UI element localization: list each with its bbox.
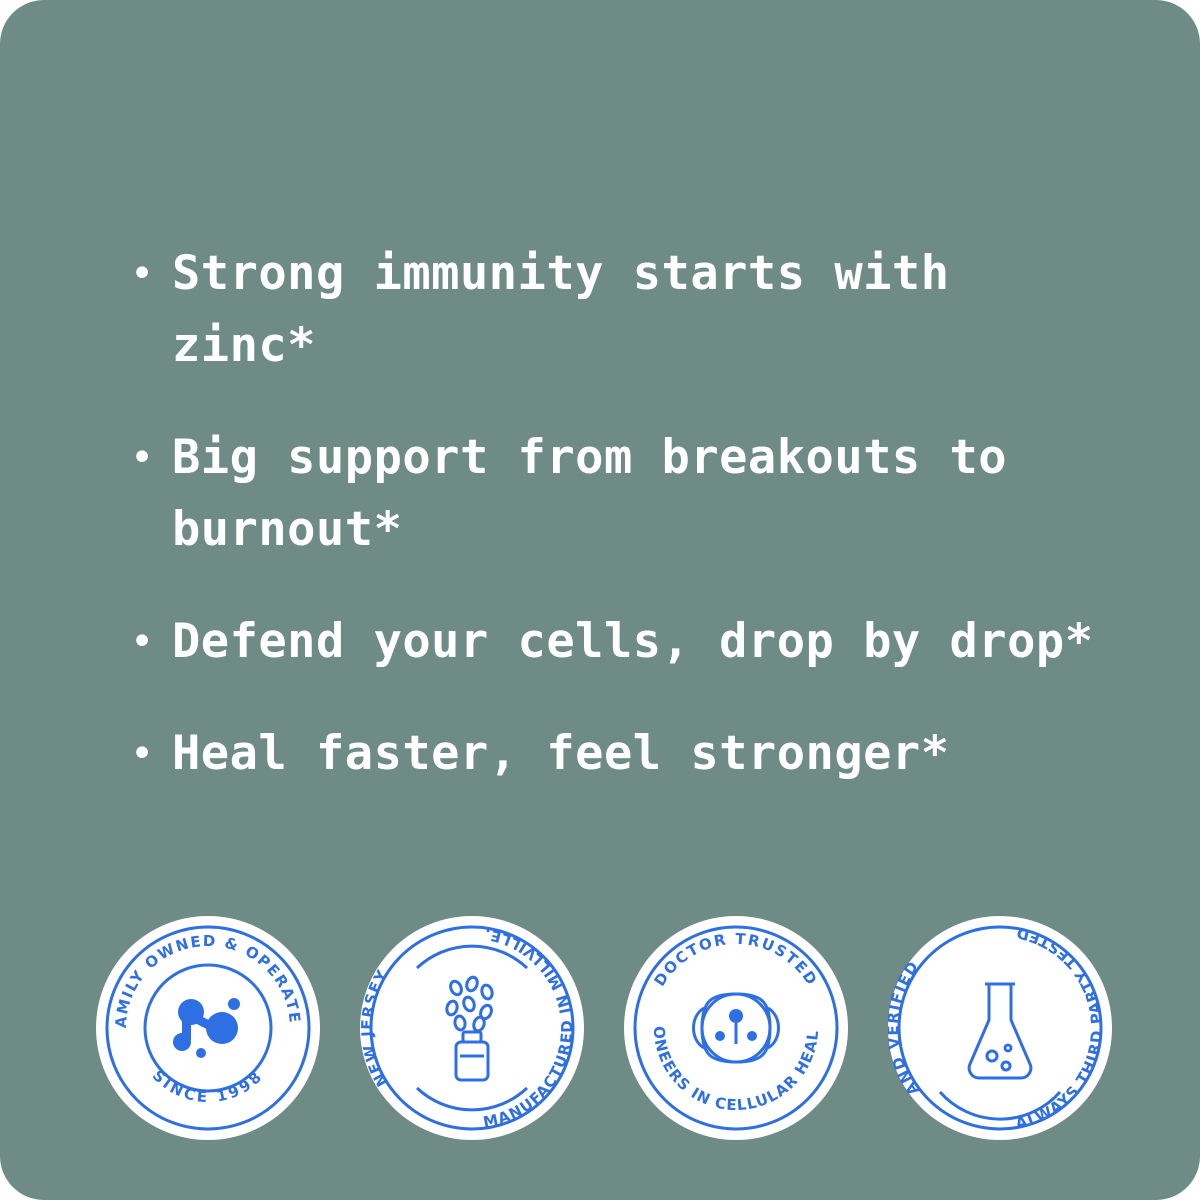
bullet-icon: • — [130, 606, 172, 678]
trust-badges: FAMILY OWNED & OPERATED SINCE 1998 — [96, 916, 1108, 1140]
benefits-list: • Strong immunity starts with zinc* • Bi… — [130, 238, 1140, 830]
list-item: • Strong immunity starts with zinc* — [130, 238, 1140, 382]
benefit-text: Defend your cells, drop by drop* — [172, 606, 1093, 678]
list-item: • Heal faster, feel stronger* — [130, 718, 1140, 790]
third-party-tested-badge: ALWAYS THIRD PARTY TESTED AND VERIFIED — [888, 916, 1112, 1140]
benefits-card: • Strong immunity starts with zinc* • Bi… — [0, 0, 1200, 1200]
bullet-icon: • — [130, 718, 172, 790]
doctor-trusted-badge: DOCTOR TRUSTED PIONEERS IN CELLULAR HEAL… — [624, 916, 848, 1140]
bullet-icon: • — [130, 422, 172, 494]
manufactured-badge: MANUFACTURED IN MILLVILLE, NEW JERSEY — [360, 916, 584, 1140]
benefit-text: Heal faster, feel stronger* — [172, 718, 950, 790]
family-owned-badge: FAMILY OWNED & OPERATED SINCE 1998 — [96, 916, 320, 1140]
bullet-icon: • — [130, 238, 172, 310]
benefit-text: Strong immunity starts with zinc* — [172, 238, 950, 382]
list-item: • Defend your cells, drop by drop* — [130, 606, 1140, 678]
benefit-text: Big support from breakouts to burnout* — [172, 422, 1007, 566]
list-item: • Big support from breakouts to burnout* — [130, 422, 1140, 566]
